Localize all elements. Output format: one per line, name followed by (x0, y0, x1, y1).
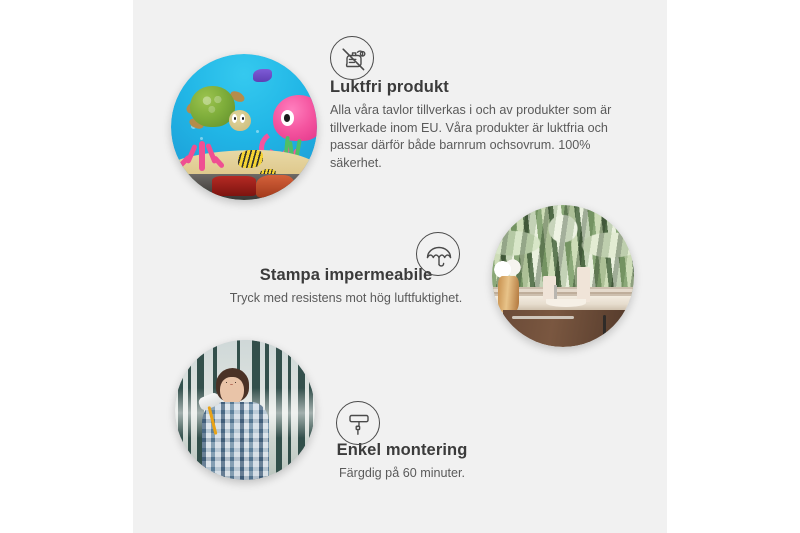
bathroom-artwork (492, 205, 634, 347)
feature-description: Tryck med resistens mot hög luftfuktighe… (196, 290, 496, 308)
underwater-artwork (171, 54, 317, 200)
feature-image-underwater (171, 54, 317, 200)
feature-title: Enkel montering (282, 440, 522, 461)
feature-image-bathroom (492, 205, 634, 347)
umbrella-icon (416, 232, 460, 276)
product-feature-infographic: Luktfri produkt Alla våra tavlor tillver… (0, 0, 800, 533)
feature-description: Alla våra tavlor tillverkas i och av pro… (330, 102, 620, 174)
no-fragrance-icon (330, 36, 374, 80)
paint-roller-icon (336, 401, 380, 445)
feature-text-odour-free: Luktfri produkt Alla våra tavlor tillver… (330, 77, 620, 173)
feature-description: Färgdig på 60 minuter. (282, 465, 522, 483)
feature-text-easy-assembly: Enkel montering Färgdig på 60 minuter. (282, 440, 522, 483)
